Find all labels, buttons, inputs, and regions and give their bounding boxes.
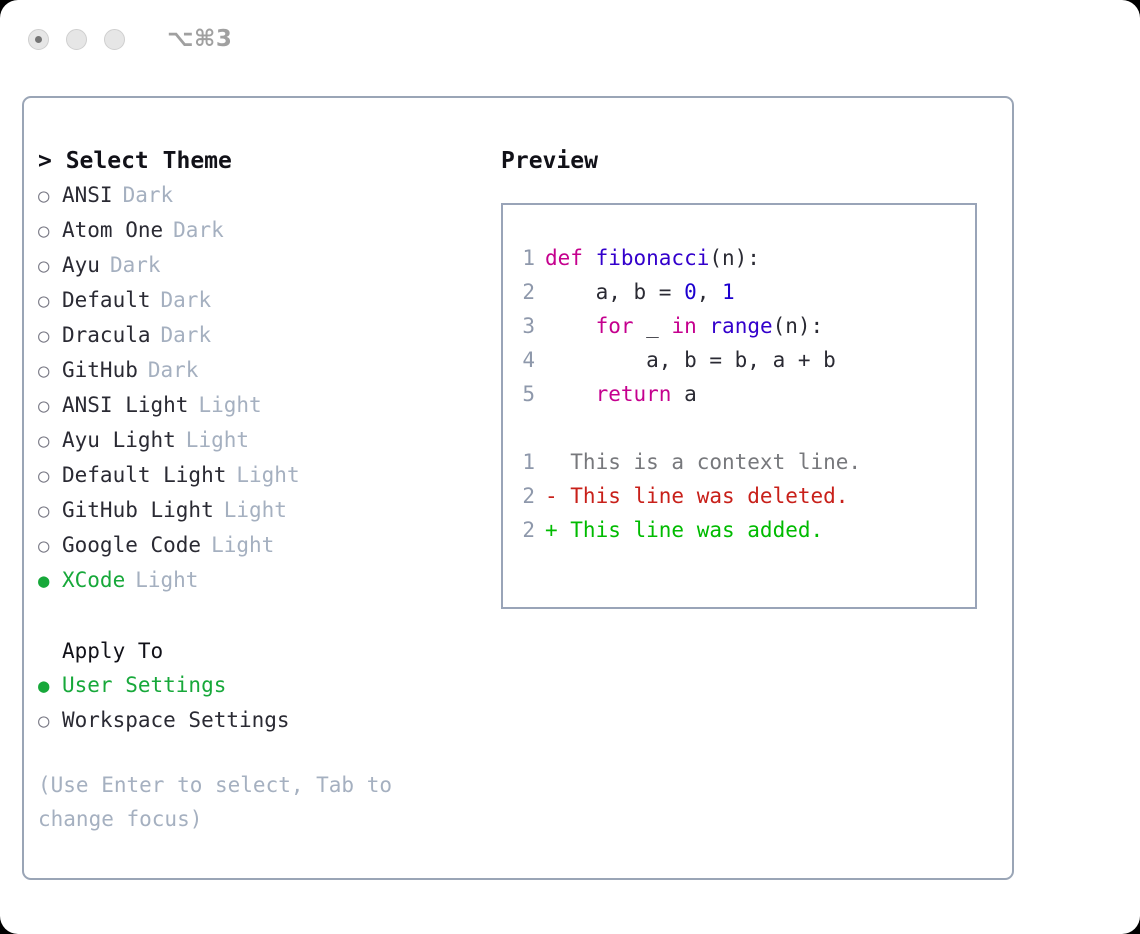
apply-to-option-workspace-settings[interactable]: ○Workspace Settings <box>38 703 488 738</box>
radio-unselected-icon: ○ <box>38 249 62 283</box>
code-token: + This line was added. <box>545 518 823 542</box>
radio-unselected-icon: ○ <box>38 459 62 493</box>
theme-option-default[interactable]: ○DefaultDark <box>38 283 488 318</box>
code-token: 0 <box>684 280 697 304</box>
code-token: This is a context line. <box>545 450 861 474</box>
radio-unselected-icon: ○ <box>38 389 62 423</box>
theme-variant-badge: Dark <box>161 318 212 352</box>
radio-unselected-icon: ○ <box>38 214 62 248</box>
theme-option-label: Dracula <box>62 318 151 352</box>
diff-line: 2- This line was deleted. <box>503 479 975 513</box>
code-token: 1 <box>722 280 735 304</box>
window-dot-active-icon[interactable] <box>28 29 49 50</box>
theme-option-label: XCode <box>62 563 125 597</box>
apply-to-heading: Apply To <box>38 634 488 668</box>
code-token: def <box>545 246 596 270</box>
main-panel: > Select Theme ○ANSIDark○Atom OneDark○Ay… <box>22 96 1014 880</box>
line-content: This is a context line. <box>545 445 861 479</box>
theme-option-xcode[interactable]: ●XCodeLight <box>38 563 488 598</box>
theme-option-label: Google Code <box>62 528 201 562</box>
code-token <box>545 314 596 338</box>
radio-selected-icon: ● <box>38 564 62 598</box>
theme-option-ayu[interactable]: ○AyuDark <box>38 248 488 283</box>
theme-variant-badge: Light <box>224 493 287 527</box>
line-content: a, b = b, a + b <box>545 343 836 377</box>
theme-option-label: Default <box>62 283 151 317</box>
code-line: 5 return a <box>503 377 975 411</box>
theme-option-label: Atom One <box>62 213 163 247</box>
diff-sample: 1 This is a context line.2- This line wa… <box>503 445 975 547</box>
line-content: - This line was deleted. <box>545 479 848 513</box>
theme-option-list: ○ANSIDark○Atom OneDark○AyuDark○DefaultDa… <box>38 178 488 598</box>
apply-to-option-label: Workspace Settings <box>62 703 290 737</box>
theme-variant-badge: Light <box>198 388 261 422</box>
radio-unselected-icon: ○ <box>38 319 62 353</box>
radio-unselected-icon: ○ <box>38 529 62 563</box>
line-number: 5 <box>503 377 545 411</box>
radio-unselected-icon: ○ <box>38 494 62 528</box>
code-line: 2 a, b = 0, 1 <box>503 275 975 309</box>
line-content: a, b = 0, 1 <box>545 275 735 309</box>
code-token: (n): <box>709 246 760 270</box>
window-dot-inner <box>35 36 42 43</box>
apply-to-option-user-settings[interactable]: ●User Settings <box>38 668 488 703</box>
code-token <box>697 314 710 338</box>
theme-selector-column: > Select Theme ○ANSIDark○Atom OneDark○Ay… <box>38 144 488 836</box>
theme-option-label: Ayu Light <box>62 423 176 457</box>
keyboard-hint: (Use Enter to select, Tab to change focu… <box>38 768 438 836</box>
preview-box: 1def fibonacci(n):2 a, b = 0, 13 for _ i… <box>501 203 977 609</box>
theme-variant-badge: Dark <box>173 213 224 247</box>
code-token: fibonacci <box>596 246 710 270</box>
theme-variant-badge: Dark <box>161 283 212 317</box>
theme-option-ayu-light[interactable]: ○Ayu LightLight <box>38 423 488 458</box>
theme-option-label: GitHub Light <box>62 493 214 527</box>
line-number: 2 <box>503 275 545 309</box>
theme-variant-badge: Dark <box>110 248 161 282</box>
code-token: (n): <box>773 314 824 338</box>
radio-unselected-icon: ○ <box>38 179 62 213</box>
theme-option-label: ANSI Light <box>62 388 188 422</box>
code-token: for <box>596 314 634 338</box>
code-token: a, b = b, a + b <box>545 348 836 372</box>
theme-option-label: ANSI <box>62 178 113 212</box>
theme-variant-badge: Light <box>211 528 274 562</box>
preview-heading: Preview <box>501 144 1001 178</box>
line-number: 2 <box>503 513 545 547</box>
apply-to-option-label: User Settings <box>62 668 226 702</box>
theme-option-label: Ayu <box>62 248 100 282</box>
radio-unselected-icon: ○ <box>38 704 62 738</box>
theme-option-default-light[interactable]: ○Default LightLight <box>38 458 488 493</box>
code-line: 3 for _ in range(n): <box>503 309 975 343</box>
theme-option-atom-one[interactable]: ○Atom OneDark <box>38 213 488 248</box>
code-token <box>545 382 596 406</box>
theme-variant-badge: Dark <box>123 178 174 212</box>
code-line: 4 a, b = b, a + b <box>503 343 975 377</box>
theme-option-google-code[interactable]: ○Google CodeLight <box>38 528 488 563</box>
line-content: + This line was added. <box>545 513 823 547</box>
code-spacer <box>503 411 975 445</box>
code-token: _ <box>634 314 672 338</box>
theme-option-label: GitHub <box>62 353 138 387</box>
diff-line: 2+ This line was added. <box>503 513 975 547</box>
code-token: - This line was deleted. <box>545 484 848 508</box>
theme-option-dracula[interactable]: ○DraculaDark <box>38 318 488 353</box>
code-token: a <box>671 382 696 406</box>
line-number: 1 <box>503 445 545 479</box>
apply-to-option-list: ●User Settings○Workspace Settings <box>38 668 488 738</box>
select-theme-heading: > Select Theme <box>38 144 488 178</box>
theme-option-github-light[interactable]: ○GitHub LightLight <box>38 493 488 528</box>
theme-option-ansi-light[interactable]: ○ANSI LightLight <box>38 388 488 423</box>
line-number: 3 <box>503 309 545 343</box>
line-number: 2 <box>503 479 545 513</box>
window-controls <box>28 29 125 50</box>
radio-unselected-icon: ○ <box>38 354 62 388</box>
app-window: ⌥⌘3 > Select Theme ○ANSIDark○Atom OneDar… <box>0 0 1140 934</box>
diff-line: 1 This is a context line. <box>503 445 975 479</box>
theme-variant-badge: Light <box>236 458 299 492</box>
theme-variant-badge: Light <box>135 563 198 597</box>
theme-variant-badge: Light <box>186 423 249 457</box>
preview-column: Preview 1def fibonacci(n):2 a, b = 0, 13… <box>501 144 1001 609</box>
theme-option-ansi[interactable]: ○ANSIDark <box>38 178 488 213</box>
line-content: return a <box>545 377 697 411</box>
code-token: , <box>697 280 722 304</box>
radio-unselected-icon: ○ <box>38 284 62 318</box>
code-token: a, b = <box>545 280 684 304</box>
radio-selected-icon: ● <box>38 669 62 703</box>
code-token: range <box>709 314 772 338</box>
code-sample: 1def fibonacci(n):2 a, b = 0, 13 for _ i… <box>503 241 975 411</box>
title-bar: ⌥⌘3 <box>0 0 1140 78</box>
code-line: 1def fibonacci(n): <box>503 241 975 275</box>
line-content: for _ in range(n): <box>545 309 823 343</box>
window-dot-second-icon[interactable] <box>66 29 87 50</box>
code-token: return <box>596 382 672 406</box>
line-number: 1 <box>503 241 545 275</box>
theme-option-label: Default Light <box>62 458 226 492</box>
shortcut-label: ⌥⌘3 <box>167 26 232 52</box>
line-number: 4 <box>503 343 545 377</box>
line-content: def fibonacci(n): <box>545 241 760 275</box>
theme-option-github[interactable]: ○GitHubDark <box>38 353 488 388</box>
window-dot-third-icon[interactable] <box>104 29 125 50</box>
code-token: in <box>671 314 696 338</box>
theme-variant-badge: Dark <box>148 353 199 387</box>
radio-unselected-icon: ○ <box>38 424 62 458</box>
